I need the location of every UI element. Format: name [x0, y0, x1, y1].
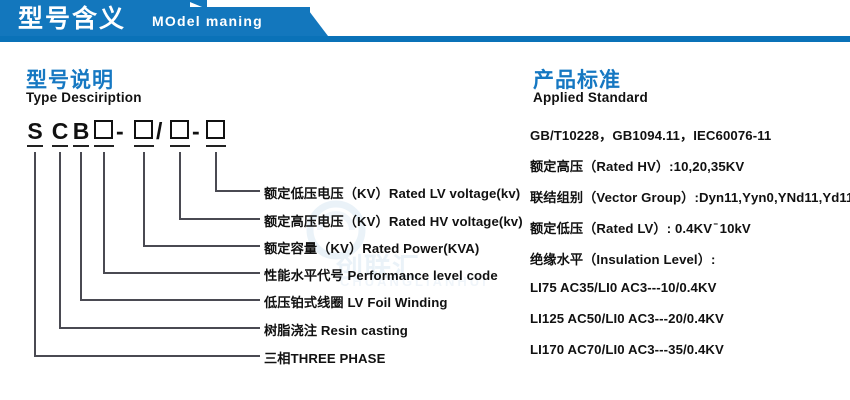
- banner-underline-rule: [0, 36, 850, 42]
- standard-line-li125: LI125 AC50/LI0 AC3---20/0.4KV: [530, 311, 724, 326]
- code-separator-dash-2: -: [192, 118, 200, 144]
- leader-hline-4: [103, 272, 260, 274]
- leader-vline-5: [80, 152, 82, 301]
- banner-shape-taper: [306, 7, 328, 36]
- right-section-title-en: Applied Standard: [533, 90, 648, 105]
- standard-line-rated-hv: 额定高压（Rated HV）:10,20,35KV: [530, 156, 744, 175]
- leader-vline-3: [143, 152, 145, 247]
- callout-label-resin-casting: 树脂浇注 Resin casting: [264, 320, 408, 339]
- standard-line-li75: LI75 AC35/LI0 AC3---10/0.4KV: [530, 280, 717, 295]
- leader-vline-4: [103, 152, 105, 274]
- code-separator-slash: /: [156, 118, 162, 144]
- leader-hline-5: [80, 299, 260, 301]
- code-box-hv: [170, 120, 189, 139]
- code-underline-box4: [206, 145, 226, 147]
- banner-title-cn: 型号含义: [18, 3, 126, 35]
- code-box-power: [134, 120, 153, 139]
- banner-title-en: MOdel maning: [152, 11, 263, 31]
- leader-hline-7: [34, 355, 260, 357]
- code-box-lv: [206, 120, 225, 139]
- leader-hline-3: [143, 245, 260, 247]
- standard-line-vector-group: 联结组别（Vector Group）:Dyn11,Yyn0,YNd11,Yd11: [530, 187, 850, 206]
- code-underline-box3: [170, 145, 190, 147]
- standard-line-gb-iec: GB/T10228，GB1094.11，IEC60076-11: [530, 125, 771, 144]
- code-glyph-c: C: [51, 118, 69, 144]
- callout-label-rated-power: 额定容量（KV）Rated Power(KVA): [264, 238, 479, 257]
- code-glyph-s: S: [26, 118, 44, 144]
- callout-label-three-phase: 三相THREE PHASE: [264, 348, 385, 367]
- code-underline-s: [27, 145, 43, 147]
- callout-label-performance-level: 性能水平代号 Performance level code: [264, 265, 498, 284]
- code-glyph-b: B: [72, 118, 90, 144]
- page-header-banner: 型号含义 MOdel maning: [0, 0, 850, 42]
- code-separator-dash-1: -: [116, 118, 124, 144]
- code-box-performance: [94, 120, 113, 139]
- left-section-title-en: Type Desciription: [26, 90, 142, 105]
- leader-vline-1: [215, 152, 217, 192]
- leader-vline-2: [179, 152, 181, 220]
- standard-line-li170: LI170 AC70/LI0 AC3---35/0.4KV: [530, 342, 724, 357]
- callout-label-lv-voltage: 额定低压电压（KV）Rated LV voltage(kv): [264, 183, 520, 202]
- callout-label-hv-voltage: 额定高压电压（KV）Rated HV voltage(kv): [264, 211, 523, 230]
- leader-hline-2: [179, 218, 260, 220]
- code-underline-box1: [94, 145, 114, 147]
- leader-hline-1: [215, 190, 260, 192]
- leader-vline-6: [59, 152, 61, 329]
- code-underline-c: [52, 145, 68, 147]
- page-root: 型号含义 MOdel maning 创联汇 CHUANGLIANHUI 型号说明…: [0, 0, 850, 400]
- code-underline-box2: [134, 145, 154, 147]
- callout-label-foil-winding: 低压铂式线圈 LV Foil Winding: [264, 292, 448, 311]
- model-code-row: S C B - / -: [0, 118, 250, 152]
- standard-line-insulation-level: 绝缘水平（Insulation Level）:: [530, 249, 715, 268]
- code-underline-b: [73, 145, 89, 147]
- leader-hline-6: [59, 327, 260, 329]
- leader-vline-7: [34, 152, 36, 357]
- standard-line-rated-lv: 额定低压（Rated LV）: 0.4KV ̄ 10kV: [530, 218, 751, 237]
